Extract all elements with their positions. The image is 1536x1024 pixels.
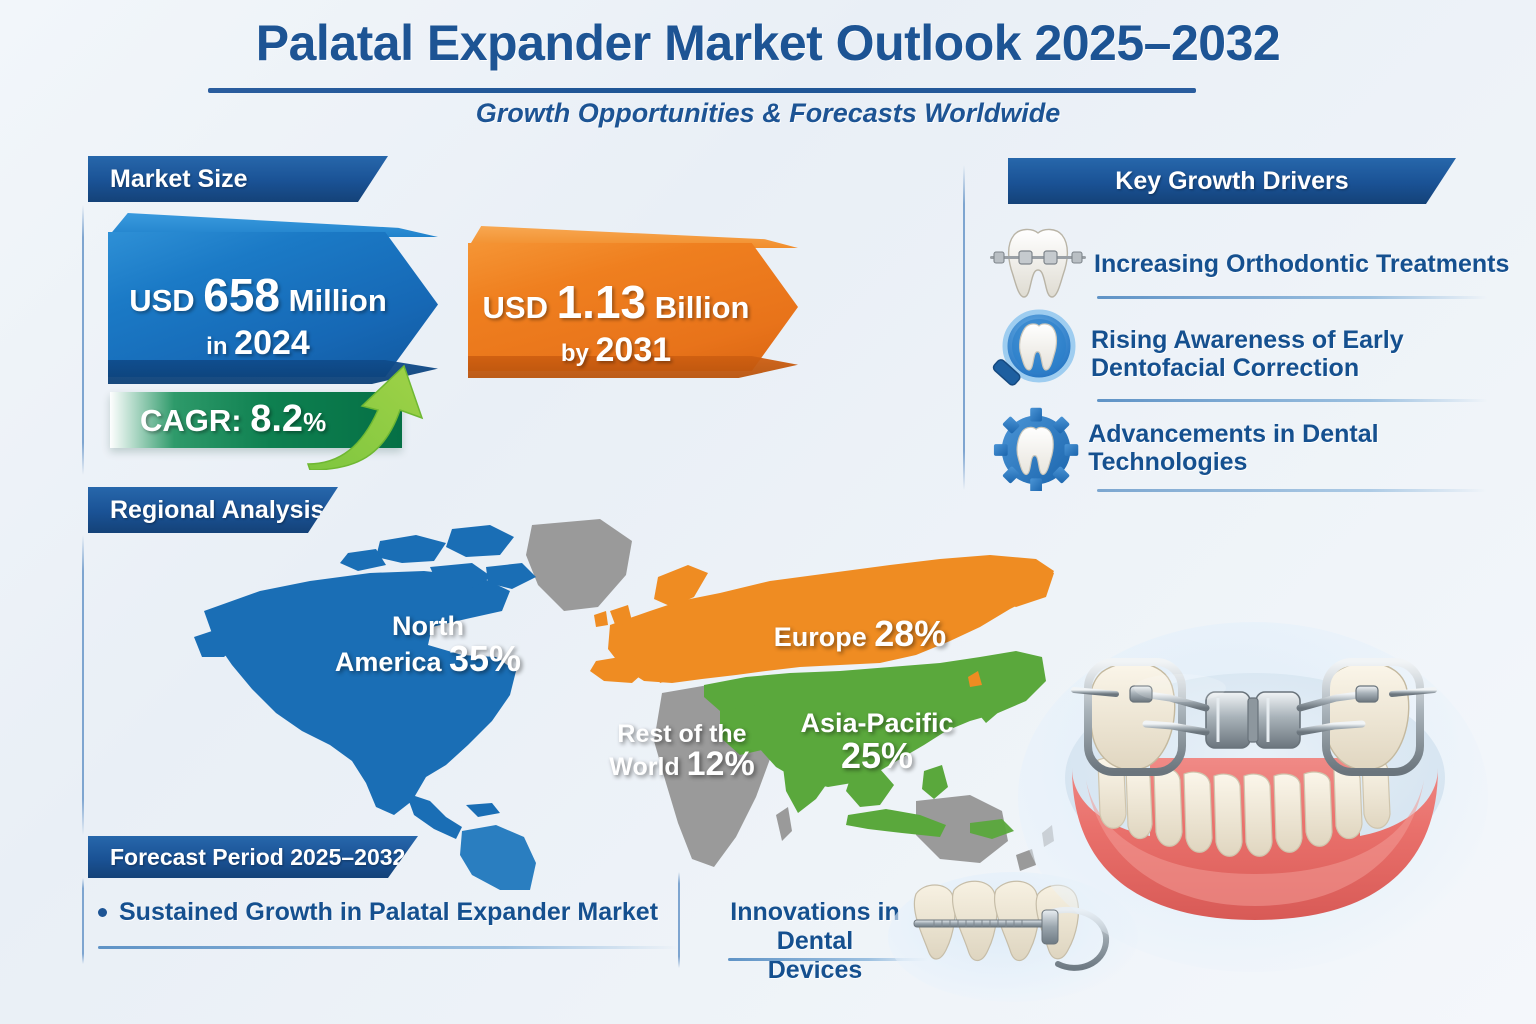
title-divider <box>208 88 1196 93</box>
banner-market-size: Market Size <box>88 156 388 202</box>
world-map[interactable]: North America 35% Europe 28% Asia-Pacifi… <box>180 515 1060 890</box>
driver-item-1[interactable]: Increasing Orthodontic Treatments <box>988 225 1509 303</box>
driver-item-2[interactable]: Rising Awareness of Early Dentofacial Co… <box>985 308 1404 400</box>
banner-forecast-period-label: Forecast Period 2025–2032 <box>88 844 439 871</box>
tooth-braces-icon <box>988 225 1088 303</box>
banner-key-growth-drivers-label: Key Growth Drivers <box>1115 167 1348 196</box>
forecast-bullet-1: Sustained Growth in Palatal Expander Mar… <box>98 898 658 927</box>
drivers-left-accent <box>963 165 965 490</box>
cagr-number: 8.2 <box>250 398 303 440</box>
cagr-percent-sign: % <box>303 407 326 437</box>
cagr-value: CAGR: 8.2% <box>140 398 390 441</box>
gear-tooth-icon <box>990 405 1082 491</box>
driver-item-3[interactable]: Advancements in Dental Technologies <box>990 405 1536 491</box>
forecast-divider <box>98 946 678 949</box>
market-forecast-arrow-shadow-face <box>468 356 798 378</box>
infographic-canvas: Palatal Expander Market Outlook 2025–203… <box>0 0 1536 1024</box>
magnifier-tooth-icon <box>985 308 1085 400</box>
drivers-divider-2 <box>1097 399 1487 402</box>
market-current-arrow <box>108 232 438 377</box>
driver-2-label-line2: Dentofacial Correction <box>1091 354 1404 382</box>
market-size-left-accent <box>82 205 84 475</box>
banner-market-size-label: Market Size <box>88 165 282 194</box>
cagr-label: CAGR: <box>140 403 242 438</box>
page-subtitle: Growth Opportunities & Forecasts Worldwi… <box>0 98 1536 129</box>
banner-key-growth-drivers: Key Growth Drivers <box>1008 158 1456 204</box>
market-forecast-arrow <box>468 243 798 371</box>
regional-left-accent <box>82 535 84 835</box>
forecast-left-accent <box>82 878 84 964</box>
drivers-divider-1 <box>1097 296 1487 299</box>
world-map-svg <box>180 515 1060 890</box>
driver-3-label-line1: Advancements in Dental Technologies <box>1088 420 1536 476</box>
bullet-dot-icon <box>98 908 107 917</box>
driver-1-label-line1: Increasing Orthodontic Treatments <box>1094 250 1509 278</box>
innovation-left-accent <box>678 872 680 968</box>
driver-2-label-line1: Rising Awareness of Early <box>1091 326 1404 354</box>
page-title: Palatal Expander Market Outlook 2025–203… <box>0 14 1536 72</box>
forecast-bullet-1-text: Sustained Growth in Palatal Expander Mar… <box>119 898 658 927</box>
banner-forecast-period: Forecast Period 2025–2032 <box>88 836 418 878</box>
drivers-divider-3 <box>1097 489 1487 492</box>
palatal-expander-dental-model-icon <box>1030 628 1480 958</box>
